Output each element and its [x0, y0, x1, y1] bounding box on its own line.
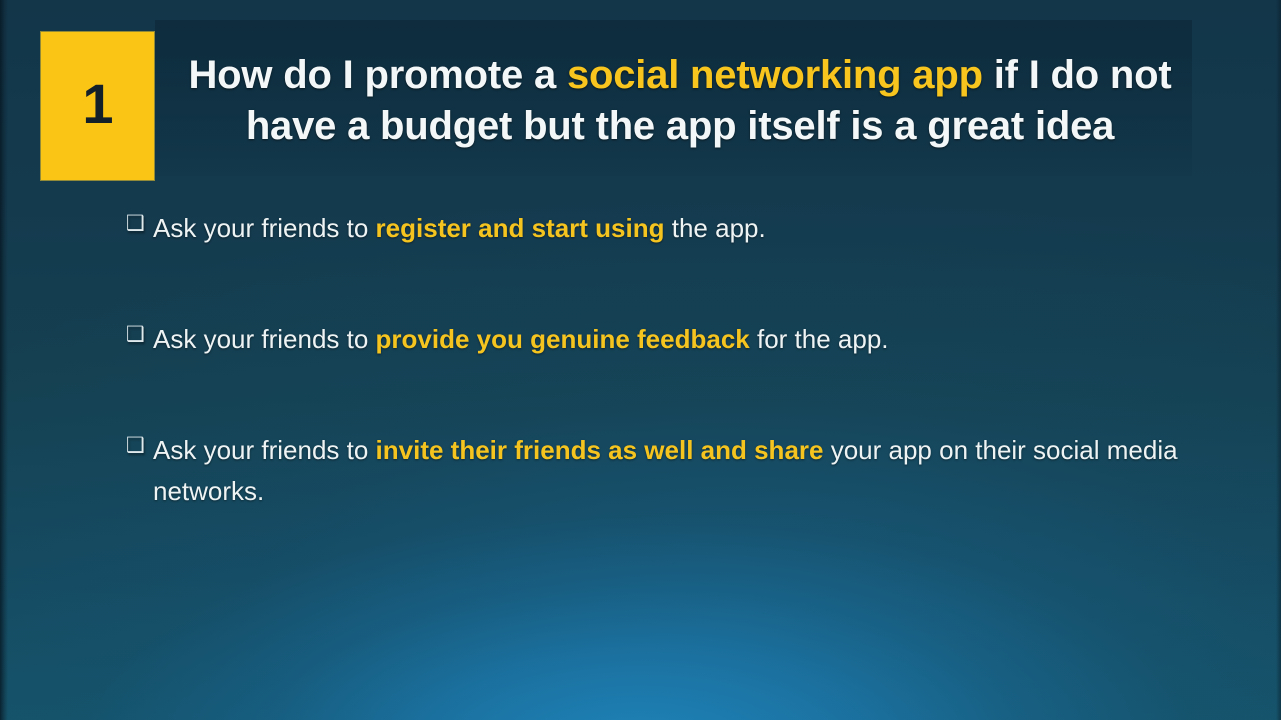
list-item: ❑Ask your friends to invite their friend…	[126, 430, 1226, 512]
presentation-slide: 1 How do I promote a social networking a…	[0, 0, 1281, 720]
plain-phrase: Ask your friends to	[153, 213, 376, 243]
slide-header: 1 How do I promote a social networking a…	[0, 0, 1281, 200]
plain-phrase: How do I promote a	[189, 53, 567, 97]
plain-phrase: Ask your friends to	[153, 324, 376, 354]
highlighted-phrase: provide you genuine feedback	[376, 324, 750, 354]
list-item-text: Ask your friends to provide you genuine …	[153, 319, 1226, 360]
list-item: ❑Ask your friends to register and start …	[126, 208, 1226, 249]
slide-number-text: 1	[82, 76, 112, 132]
highlighted-phrase: invite their friends as well and share	[376, 435, 824, 465]
list-item-text: Ask your friends to invite their friends…	[153, 430, 1226, 512]
list-item: ❑Ask your friends to provide you genuine…	[126, 319, 1226, 360]
plain-phrase: the app.	[665, 213, 766, 243]
plain-phrase: Ask your friends to	[153, 435, 376, 465]
highlighted-phrase: social networking app	[567, 53, 983, 97]
highlighted-phrase: register and start using	[376, 213, 665, 243]
checkbox-square-icon: ❑	[126, 435, 148, 456]
checkbox-square-icon: ❑	[126, 324, 148, 345]
plain-phrase: for the app.	[750, 324, 889, 354]
slide-number-badge: 1	[41, 32, 154, 180]
page-title: How do I promote a social networking app…	[170, 50, 1190, 152]
list-item-text: Ask your friends to register and start u…	[153, 208, 1226, 249]
checkbox-square-icon: ❑	[126, 213, 148, 234]
bullet-list: ❑Ask your friends to register and start …	[126, 208, 1226, 582]
